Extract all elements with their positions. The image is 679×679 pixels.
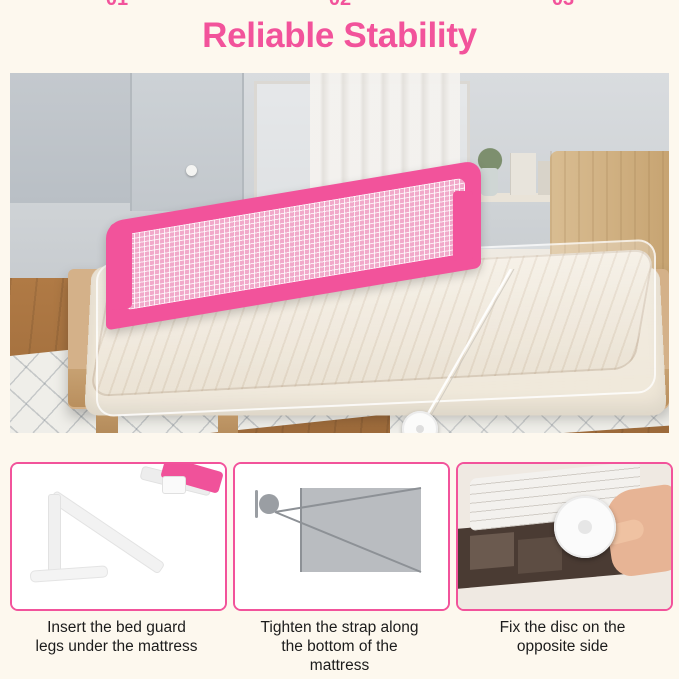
- wall-panel-middle: [130, 73, 244, 211]
- hero-photo: [10, 73, 669, 433]
- step-caption-2-line-1: Tighten the strap along: [233, 618, 446, 637]
- step-2-disc-icon: [259, 494, 279, 514]
- step-3-drawer-a: [470, 532, 514, 570]
- step-caption-3-line-2: opposite side: [456, 637, 669, 656]
- strap-disc-center: [416, 425, 424, 433]
- step-1-leg-vertical: [48, 494, 61, 574]
- steps-row: [10, 462, 669, 607]
- step-3-drawer-b: [518, 536, 562, 574]
- step-caption-2-line-3: mattress: [233, 656, 446, 675]
- bed-guard-rail-post-left: [110, 222, 132, 310]
- bed-guard-rail-post-right: [453, 191, 473, 261]
- step-caption-2-line-2: the bottom of the: [233, 637, 446, 656]
- page-title: Reliable Stability: [0, 16, 679, 56]
- step-panel-2: [233, 462, 450, 611]
- step-3-disc-center: [578, 520, 592, 534]
- step-2-bracket-icon: [255, 490, 258, 518]
- step-panel-3: [456, 462, 673, 611]
- step-badge-2: 02: [318, 0, 362, 14]
- door-knob-icon: [186, 165, 197, 176]
- step-caption-1: Insert the bed guard legs under the matt…: [10, 618, 223, 656]
- wall-panel-left: [10, 73, 130, 203]
- vase-decor: [480, 168, 498, 196]
- step-caption-3: Fix the disc on the opposite side: [456, 618, 669, 656]
- step-caption-2: Tighten the strap along the bottom of th…: [233, 618, 446, 675]
- book-decor-a: [510, 153, 536, 195]
- step-caption-3-line-1: Fix the disc on the: [456, 618, 669, 637]
- step-badge-3: 03: [541, 0, 585, 14]
- step-1-clip: [162, 476, 186, 494]
- product-feature-page: Reliable Stability: [0, 0, 679, 679]
- step-2-strap-diagram: [235, 464, 448, 609]
- step-panel-1: [10, 462, 227, 611]
- step-caption-1-line-2: legs under the mattress: [10, 637, 223, 656]
- step-caption-1-line-1: Insert the bed guard: [10, 618, 223, 637]
- step-badge-1: 01: [95, 0, 139, 14]
